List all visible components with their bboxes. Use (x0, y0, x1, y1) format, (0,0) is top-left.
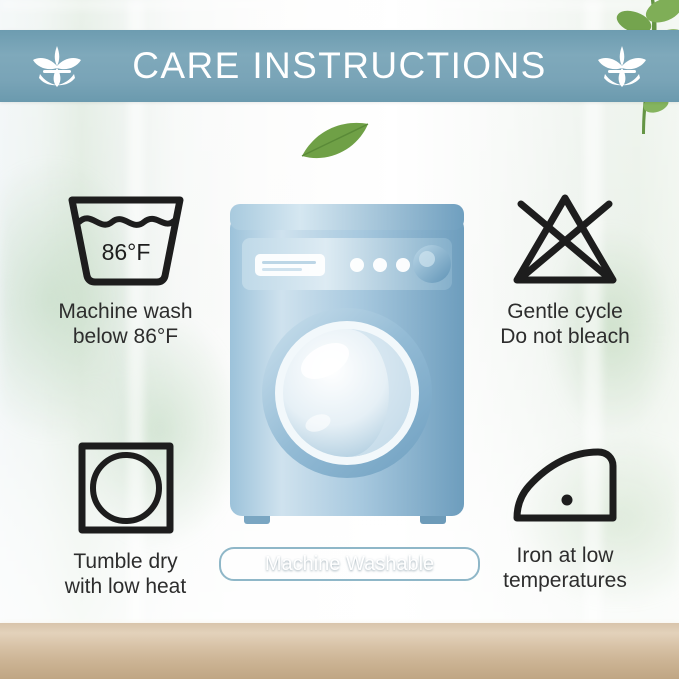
fleur-de-lis-icon-left (30, 44, 84, 88)
washer-button-3 (396, 258, 410, 272)
care-symbol-iron: Iron at low temperatures (460, 440, 670, 594)
washing-machine-illustration (222, 198, 472, 538)
window-frame-top (0, 0, 679, 10)
washer-button-1 (350, 258, 364, 272)
page-title: CARE INSTRUCTIONS (132, 45, 546, 87)
care-symbol-machine-wash: 86°F Machine wash below 86°F (18, 190, 233, 350)
care-symbol-tumble-dry: Tumble dry with low heat (18, 440, 233, 600)
machine-washable-label: Machine Washable (265, 553, 434, 576)
wash-tub-icon-wrap: 86°F (18, 190, 233, 286)
triangle-crossed-bleach-icon (509, 190, 621, 286)
caption-machine-wash: Machine wash below 86°F (18, 300, 233, 350)
wash-temperature-label: 86°F (101, 239, 150, 265)
bleach-triangle-icon-wrap (460, 190, 670, 286)
caption-gentle-cycle: Gentle cycle Do not bleach (460, 300, 670, 350)
fleur-de-lis-icon-right (595, 44, 649, 88)
caption-iron: Iron at low temperatures (460, 544, 670, 594)
washer-button-2 (373, 258, 387, 272)
header-banner: CARE INSTRUCTIONS (0, 30, 679, 102)
care-symbol-gentle-cycle: Gentle cycle Do not bleach (460, 190, 670, 350)
tumble-dry-icon-wrap (18, 440, 233, 536)
caption-tumble-dry: Tumble dry with low heat (18, 550, 233, 600)
iron-icon (503, 440, 627, 530)
wooden-table-surface (0, 623, 679, 679)
machine-washable-badge: Machine Washable (219, 547, 480, 581)
care-instructions-poster: CARE INSTRUCTIONS 86°F Machine wash belo… (0, 0, 679, 679)
wash-tub-icon: 86°F (66, 190, 186, 286)
tumble-dry-square-icon (76, 440, 176, 536)
iron-icon-wrap (460, 440, 670, 530)
